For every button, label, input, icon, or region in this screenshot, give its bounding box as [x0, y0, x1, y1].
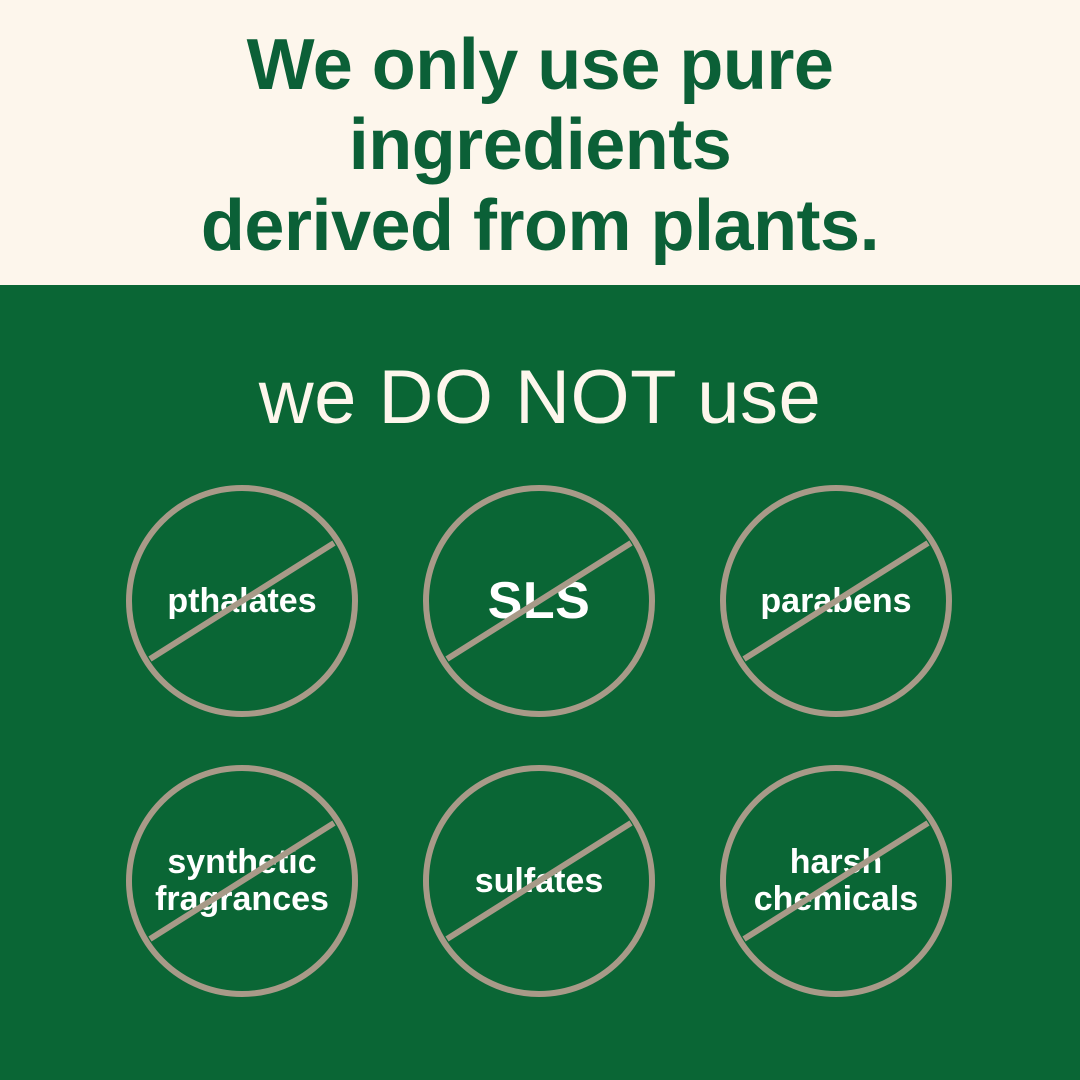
- prohibition-circle: [124, 763, 360, 999]
- prohibition-circle: [421, 483, 657, 719]
- no-pthalates-icon: pthalates: [124, 483, 360, 719]
- no-parabens-icon: parabens: [718, 483, 954, 719]
- prohibition-circle: [718, 763, 954, 999]
- no-harsh-chemicals-icon: harsh chemicals: [718, 763, 954, 999]
- do-not-use-panel: we DO NOT use pthalates: [0, 285, 1080, 1080]
- ingredient-promise-poster: We only use pure ingredients derived fro…: [0, 0, 1080, 1080]
- page-title: We only use pure ingredients derived fro…: [60, 19, 1020, 267]
- prohibition-circle: [718, 483, 954, 719]
- prohibition-circle: [421, 763, 657, 999]
- excluded-ingredients-grid: pthalates SLS: [0, 285, 1080, 1080]
- headline-line-2: derived from plants.: [60, 186, 1020, 267]
- no-sls-icon: SLS: [421, 483, 657, 719]
- headline-line-1: We only use pure ingredients: [60, 25, 1020, 186]
- prohibition-circle: [124, 483, 360, 719]
- headline-band: We only use pure ingredients derived fro…: [0, 0, 1080, 285]
- no-synthetic-fragrances-icon: synthetic fragrances: [124, 763, 360, 999]
- no-sulfates-icon: sulfates: [421, 763, 657, 999]
